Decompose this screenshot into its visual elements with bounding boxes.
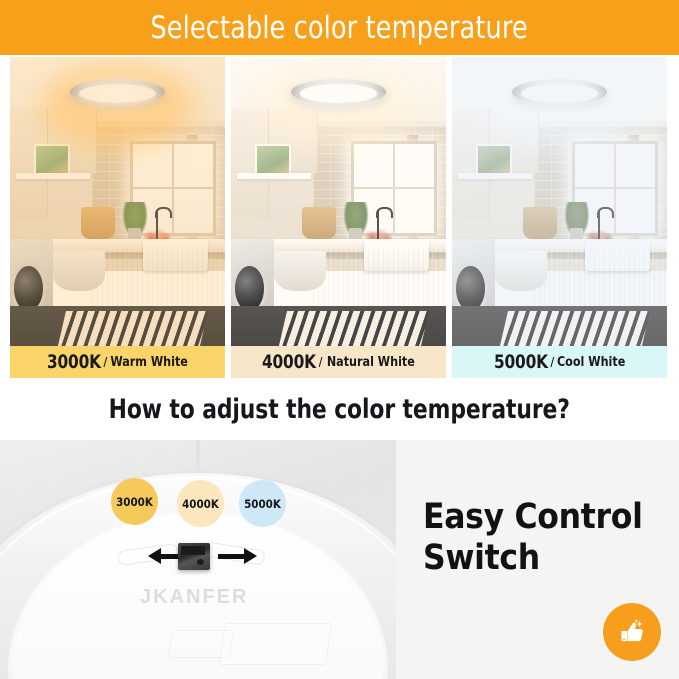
- natural-highlight-overlay: [231, 57, 446, 346]
- temperature-name: Natural White: [326, 354, 414, 370]
- thumbs-up-icon: [614, 614, 650, 650]
- label-separator: /: [550, 354, 554, 370]
- label-band-3000k: 3000K / Warm White: [10, 346, 225, 378]
- room-photo-4000k: [231, 57, 446, 346]
- fixture-panel-outline: [167, 630, 235, 658]
- question-band: How to adjust the color temperature?: [0, 378, 679, 440]
- fixture-panel-outline: [219, 623, 333, 665]
- temperature-bubble-4000k[interactable]: 4000K: [177, 480, 224, 527]
- comparison-card-3000k: 3000K / Warm White: [10, 57, 225, 378]
- how-to-adjust-section: JKANFER Easy Control Switch: [0, 440, 679, 679]
- cool-highlight-overlay: [452, 57, 667, 346]
- comparison-card-4000k: 4000K / Natural White: [231, 57, 446, 378]
- bubble-label: 5000K: [244, 497, 281, 511]
- heading-line-1: Easy Control: [423, 497, 643, 538]
- page-title: Selectable color temperature: [151, 10, 528, 46]
- easy-control-heading: Easy Control Switch: [423, 497, 643, 578]
- kelvin-value: 3000K: [47, 351, 101, 373]
- bubble-label: 3000K: [116, 495, 153, 509]
- heading-line-2: Switch: [423, 538, 643, 579]
- comparison-card-5000k: 5000K / Cool White: [452, 57, 667, 378]
- thumbs-up-badge: [603, 603, 661, 661]
- room-photo-3000k: [10, 57, 225, 346]
- brand-embossing: JKANFER: [140, 586, 248, 609]
- label-band-5000k: 5000K / Cool White: [452, 346, 667, 378]
- label-separator: /: [319, 354, 323, 370]
- color-temperature-comparison: 3000K / Warm White: [0, 57, 679, 378]
- kelvin-value: 4000K: [262, 351, 316, 373]
- temperature-bubble-5000k[interactable]: 5000K: [239, 480, 286, 527]
- room-photo-5000k: [452, 57, 667, 346]
- temperature-bubble-3000k[interactable]: 3000K: [111, 478, 158, 525]
- label-band-4000k: 4000K / Natural White: [231, 346, 446, 378]
- control-text-pane: Easy Control Switch: [396, 440, 679, 679]
- header-banner: Selectable color temperature: [0, 0, 679, 55]
- temperature-name: Warm White: [111, 354, 189, 370]
- section-question: How to adjust the color temperature?: [109, 394, 570, 425]
- dip-switch-control[interactable]: [178, 543, 210, 570]
- temperature-name: Cool White: [557, 354, 625, 370]
- label-separator: /: [103, 354, 107, 370]
- warm-highlight-overlay: [10, 57, 225, 346]
- kelvin-value: 5000K: [494, 351, 548, 373]
- bubble-label: 4000K: [182, 497, 219, 511]
- arrow-right-icon: [218, 549, 257, 563]
